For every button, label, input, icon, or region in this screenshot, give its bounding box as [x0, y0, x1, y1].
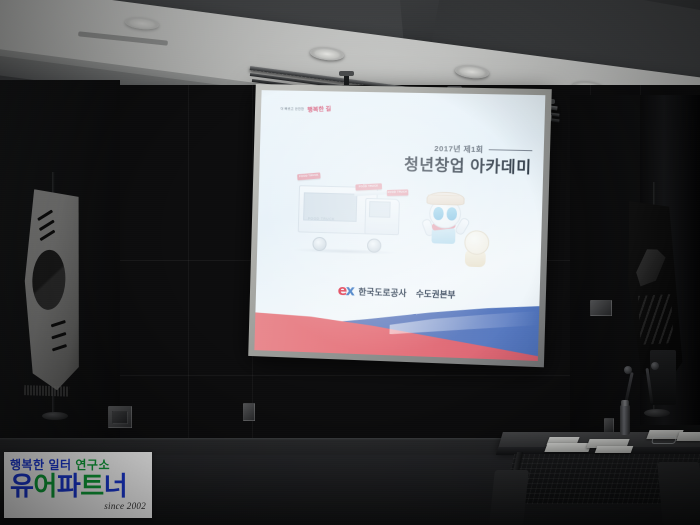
watermark-logo: 행복한 일터 연구소 유어파트너 since 2002: [4, 452, 152, 518]
truck-sign: FOOD TRUCK: [387, 189, 408, 196]
water-bottle: [620, 405, 630, 435]
watermark-tagline-green: 연구소: [75, 458, 110, 472]
projection-screen: 더 빠르고 안전한 행복한 길 FOOD TRUCK FOOD TRUCK FO…: [248, 84, 552, 367]
ex-logo-icon: ex: [337, 284, 353, 299]
watermark-brand-char: 파: [57, 471, 80, 501]
watermark-since: since 2002: [10, 501, 146, 511]
mascot-characters: [417, 188, 505, 275]
paper-sheet: [676, 432, 700, 441]
mascot-small-head: [464, 230, 490, 255]
truck-sign-label: FOOD TRUCK: [356, 183, 382, 189]
flag-base-left: [42, 412, 68, 420]
mascot-eye: [446, 208, 457, 221]
screenshot-root: 더 빠르고 안전한 행복한 길 FOOD TRUCK FOOD TRUCK FO…: [0, 0, 700, 525]
wall-switch-icon[interactable]: [604, 418, 614, 433]
flag-base-right: [644, 409, 670, 417]
slide-kicker-row: 2017년 제1회: [355, 142, 532, 157]
footer-org-branch: 수도권본부: [416, 288, 456, 301]
flag-text-block: [638, 294, 673, 345]
truck-cab-window: [369, 201, 391, 217]
watermark-brand-char: 너: [104, 471, 127, 501]
slide-logo-small-text: 더 빠르고 안전한: [281, 105, 305, 110]
watermark-brand-char: 유: [10, 471, 33, 501]
footer-org-name: 한국도로공사: [358, 286, 407, 300]
slide-kicker-text: 2017년 제1회: [434, 143, 484, 155]
flag-fringe: [25, 385, 70, 397]
chair: [489, 470, 529, 525]
watermark-tagline-blue: 행복한 일터: [10, 458, 72, 472]
wall-outlet-face[interactable]: [112, 411, 128, 424]
truck-sign-label: FOOD TRUCK: [297, 173, 321, 180]
chair: [657, 462, 700, 525]
eyeglasses: [651, 436, 677, 444]
mascot-eye: [433, 207, 444, 220]
truck-sign: FOOD TRUCK: [297, 173, 321, 181]
bottle-cap: [621, 400, 629, 406]
slide-title-block: 2017년 제1회 청년창업 아카데미: [354, 142, 532, 178]
watermark-tagline: 행복한 일터 연구소: [10, 459, 146, 471]
truck-sign-label: FOOD TRUCK: [387, 189, 408, 195]
mascot-hat: [427, 191, 465, 206]
mascot-hat-brim: [427, 194, 459, 196]
mascot-small: [458, 226, 497, 269]
slide-corner-logo: 더 빠르고 안전한 행복한 길: [280, 99, 410, 120]
ex-logo-x: x: [346, 284, 354, 300]
watermark-brand-char: 트: [80, 471, 103, 501]
paper-sheet: [595, 446, 634, 453]
food-truck-illustration: FOOD TRUCK FOOD TRUCK FOOD TRUCK FOOD TR…: [285, 166, 411, 256]
wall-switch-icon[interactable]: [243, 403, 255, 421]
watermark-brand-char: 어: [33, 471, 56, 501]
slide-footer: ex 한국도로공사 수도권본부: [256, 282, 540, 306]
truck-sign: FOOD TRUCK: [356, 183, 382, 190]
paper-sheet: [544, 443, 591, 452]
slide-logo-brand-text: 행복한 길: [307, 104, 331, 114]
wall-sign-plate: [590, 300, 612, 316]
microphone-head-icon: [624, 366, 632, 374]
projected-slide: 더 빠르고 안전한 행복한 길 FOOD TRUCK FOOD TRUCK FO…: [254, 90, 545, 361]
kicker-rule: [489, 150, 533, 152]
truck-body-label: FOOD TRUCK: [308, 217, 335, 222]
podium: [650, 350, 676, 405]
korean-flag: [19, 189, 88, 391]
truck-shadow: [292, 247, 399, 255]
watermark-brand: 유어파트너: [10, 473, 146, 500]
microphone-head-icon: [651, 362, 659, 370]
